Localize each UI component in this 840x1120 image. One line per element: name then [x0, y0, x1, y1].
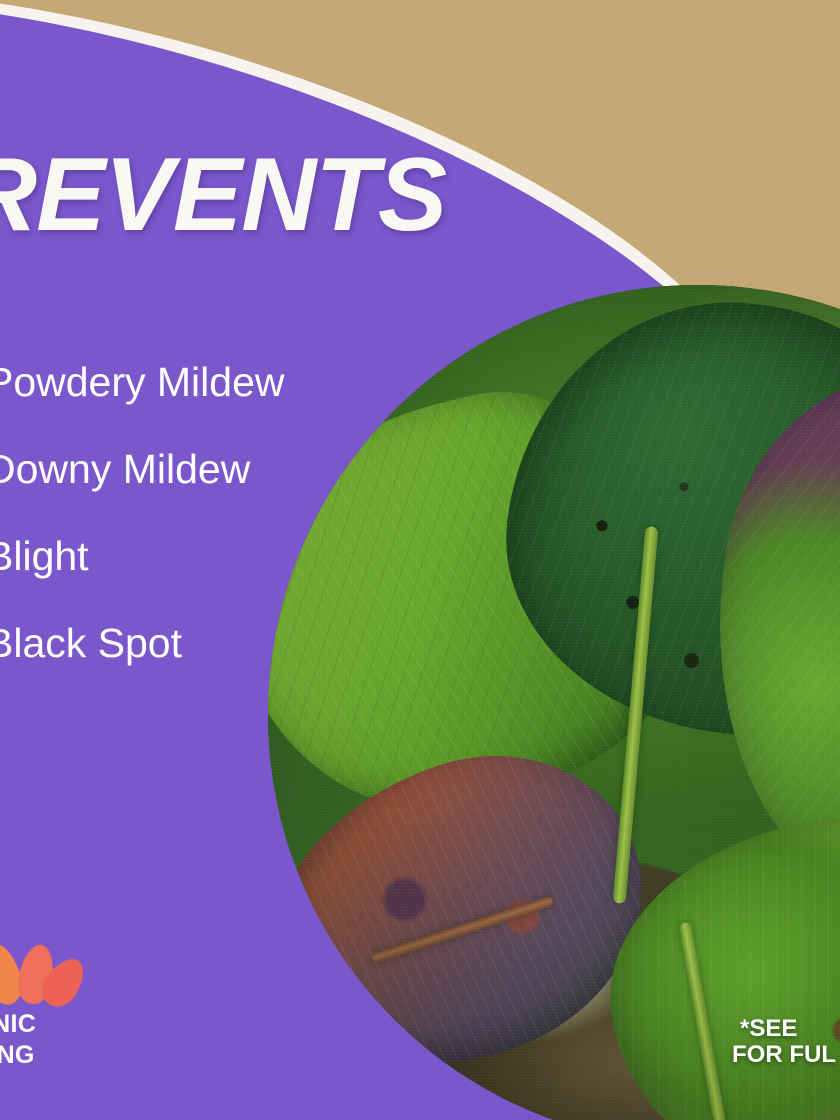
list-item: Black Spot [0, 623, 285, 710]
logo-line-2: ENING [0, 1043, 144, 1068]
logo-line-1: GANIC [0, 1012, 144, 1037]
disease-list: Powdery Mildew Downy Mildew Blight Black… [0, 362, 285, 710]
list-item: Blight [0, 536, 285, 623]
flower-petals-icon [0, 930, 84, 1006]
list-item: Powdery Mildew [0, 362, 285, 449]
footnote-line-2: FOR FUL [732, 1042, 836, 1068]
brand-logo: GANIC ENING [0, 930, 144, 1068]
footnote: *SEE FOR FUL [732, 1016, 836, 1068]
page-title: REVENTS [0, 143, 446, 247]
list-item: Downy Mildew [0, 449, 285, 536]
footnote-line-1: *SEE [740, 1016, 836, 1042]
poster-canvas: REVENTS Powdery Mildew Downy Mildew Blig… [0, 0, 840, 1120]
